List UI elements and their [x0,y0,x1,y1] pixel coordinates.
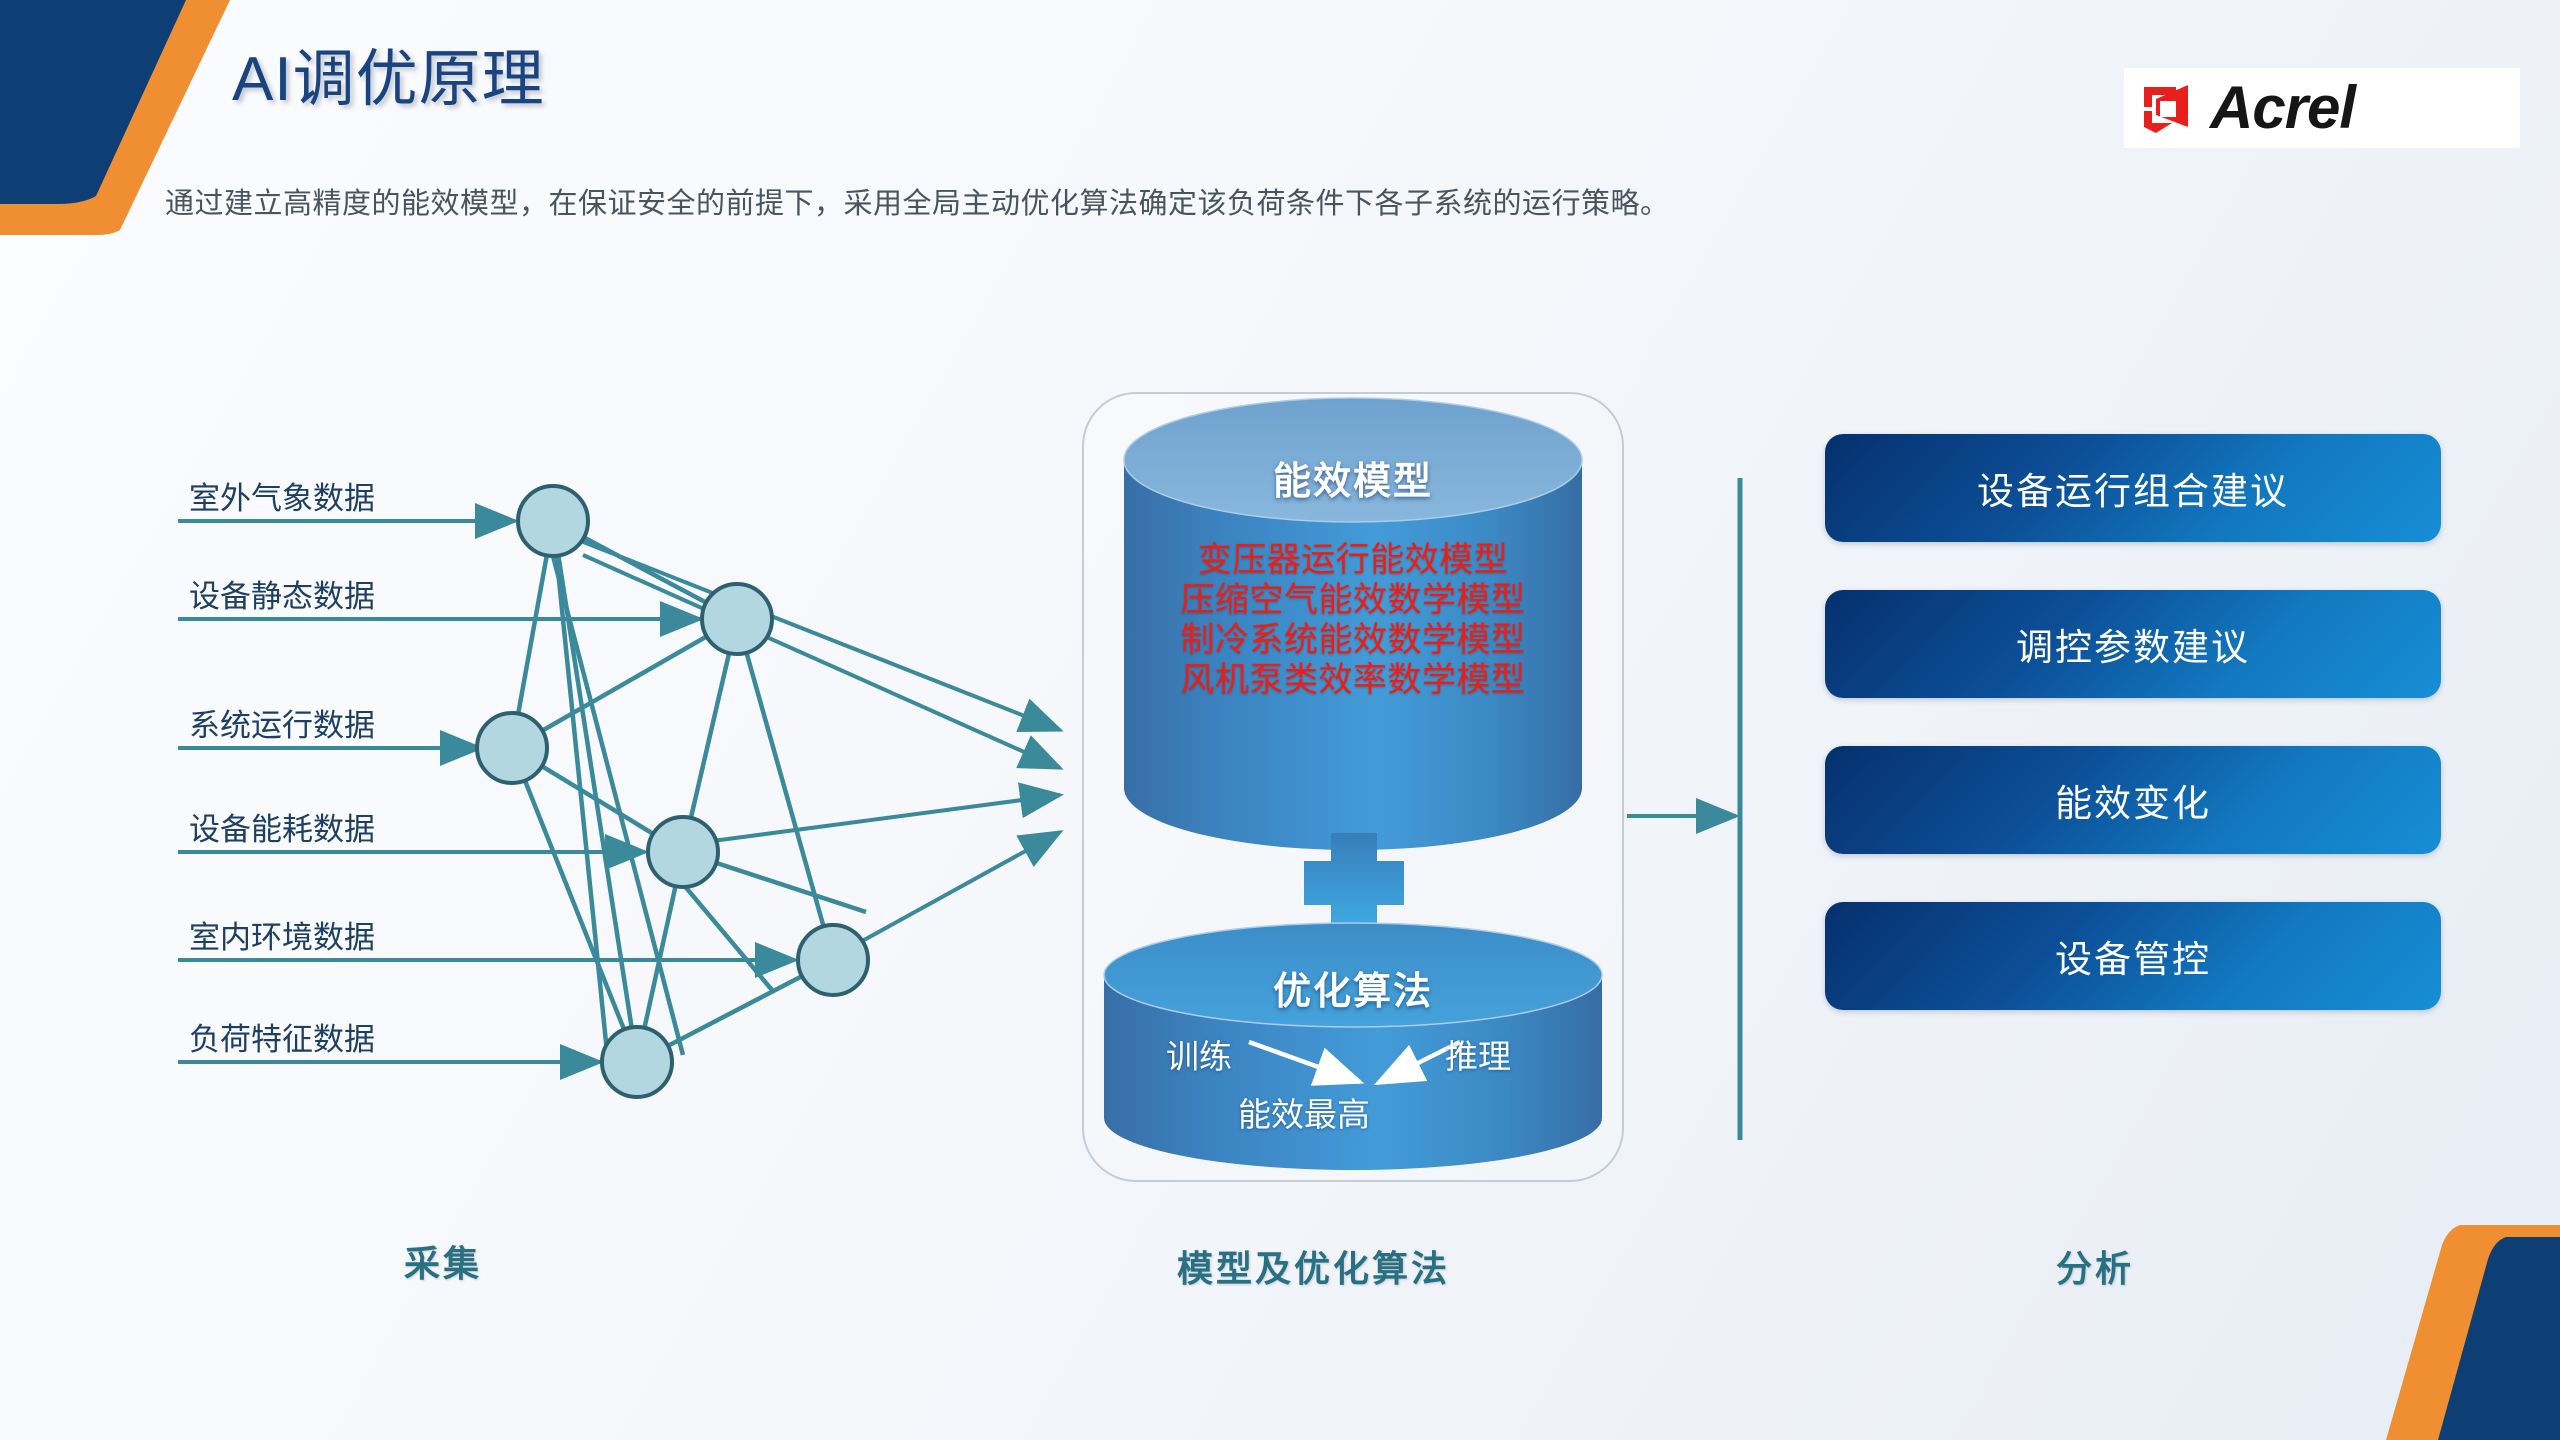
acrel-logo: Acrel [2124,68,2520,148]
optimization-algorithm-title: 优化算法 [1082,960,1624,1015]
model-section-container [1082,392,1624,1182]
algorithm-train-label: 训练 [1166,1030,1232,1078]
network-node-6 [602,1027,672,1097]
input-label-5: 室内环境数据 [189,912,375,957]
section-caption-collect: 采集 [404,1235,482,1287]
result-box-label: 设备运行组合建议 [1977,461,2289,515]
acrel-logo-text: Acrel [2210,78,2355,138]
input-label-2: 设备静态数据 [189,571,375,616]
input-label-4: 设备能耗数据 [189,804,375,849]
input-label-3: 系统运行数据 [189,700,375,745]
section-caption-model: 模型及优化算法 [1177,1240,1450,1292]
result-box-equipment-combination[interactable]: 设备运行组合建议 [1825,434,2441,542]
result-box-label: 设备管控 [2055,929,2211,983]
network-output-arrows [553,530,1060,945]
model-item-3: 制冷系统能效数学模型 [1082,620,1624,660]
network-node-4 [648,817,718,887]
algorithm-infer-label: 推理 [1445,1030,1511,1078]
result-box-control-parameter[interactable]: 调控参数建议 [1825,590,2441,698]
result-box-equipment-control[interactable]: 设备管控 [1825,902,2441,1010]
page-title: AI调优原理 [232,28,545,118]
section-caption-analyze: 分析 [2056,1240,2134,1292]
network-edges [512,521,866,1062]
model-item-1: 变压器运行能效模型 [1082,540,1624,580]
input-label-6: 负荷特征数据 [189,1014,375,1059]
corner-decoration-bottom-right [2330,1225,2560,1440]
network-node-2 [702,584,772,654]
result-box-label: 调控参数建议 [2016,617,2250,671]
network-node-1 [518,486,588,556]
algorithm-goal-label: 能效最高 [1238,1088,1370,1136]
model-item-4: 风机泵类效率数学模型 [1082,660,1624,700]
model-item-2: 压缩空气能效数学模型 [1082,580,1624,620]
efficiency-model-list: 变压器运行能效模型 压缩空气能效数学模型 制冷系统能效数学模型 风机泵类效率数学… [1082,540,1624,700]
result-box-efficiency-change[interactable]: 能效变化 [1825,746,2441,854]
network-node-5 [798,925,868,995]
acrel-logo-icon [2138,77,2200,139]
efficiency-model-title: 能效模型 [1082,450,1624,505]
page-subtitle: 通过建立高精度的能效模型，在保证安全的前提下，采用全局主动优化算法确定该负荷条件… [165,180,1670,222]
network-nodes [477,486,868,1097]
network-node-3 [477,713,547,783]
model-to-results-connector [1627,478,1740,1140]
input-label-1: 室外气象数据 [189,473,375,518]
result-box-label: 能效变化 [2055,773,2211,827]
